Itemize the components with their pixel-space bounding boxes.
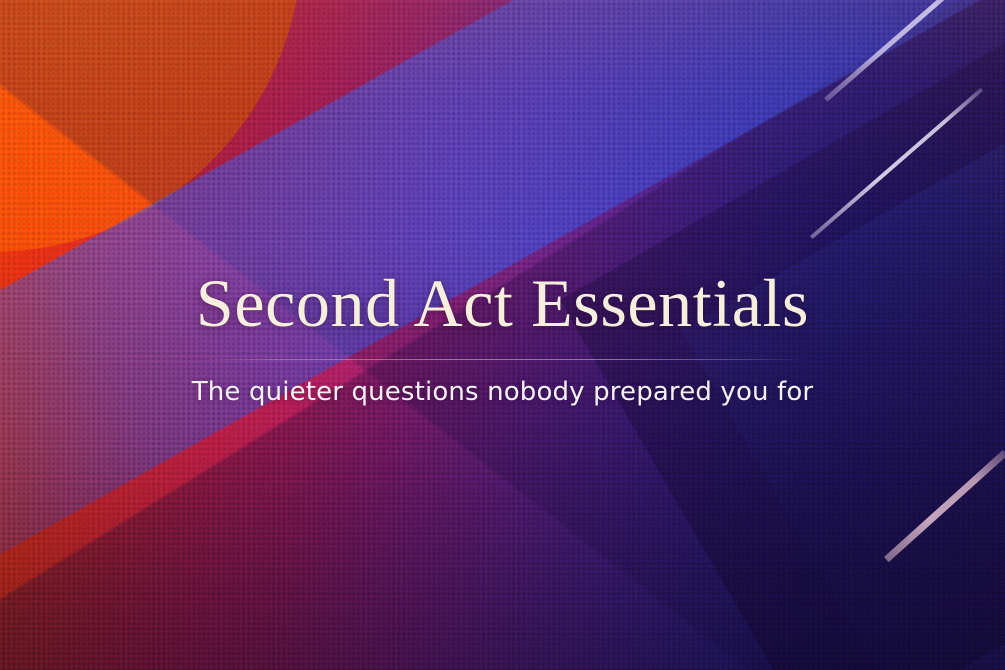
title-divider-rule xyxy=(206,359,800,360)
page-title: Second Act Essentials xyxy=(196,261,809,337)
text-block: Second Act Essentials The quieter questi… xyxy=(0,0,1005,670)
page-subtitle: The quieter questions nobody prepared yo… xyxy=(192,377,814,408)
title-card: Second Act Essentials The quieter questi… xyxy=(0,0,1005,670)
